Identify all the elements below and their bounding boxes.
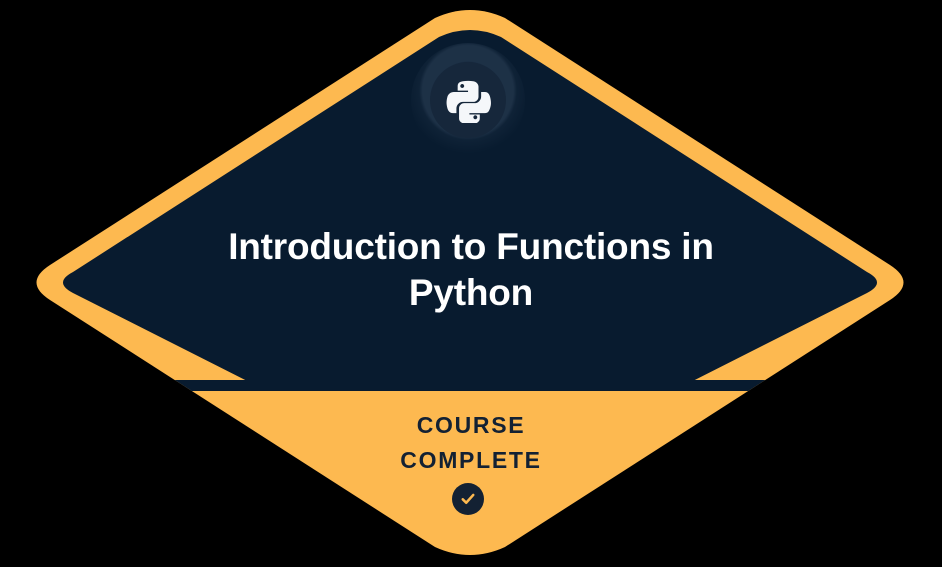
status-label-line-2: COMPLETE [0, 443, 942, 478]
course-title: Introduction to Functions inPython [170, 224, 772, 316]
completion-status-block: COURSE COMPLETE [0, 408, 942, 478]
course-title-block: Introduction to Functions inPython [0, 224, 942, 316]
emblem-inner-circle [430, 62, 506, 138]
emblem-ring [411, 43, 525, 157]
checkmark-glyph [459, 490, 477, 508]
check-circle-icon [452, 483, 484, 515]
course-completion-badge: Introduction to Functions inPython COURS… [0, 0, 942, 567]
panel-bottom-edge [35, 380, 905, 391]
course-title-line-2: Python [409, 272, 533, 313]
status-label-line-1: COURSE [0, 408, 942, 443]
course-title-line-1: Introduction to Functions in [228, 226, 714, 267]
python-logo-icon [445, 77, 491, 123]
